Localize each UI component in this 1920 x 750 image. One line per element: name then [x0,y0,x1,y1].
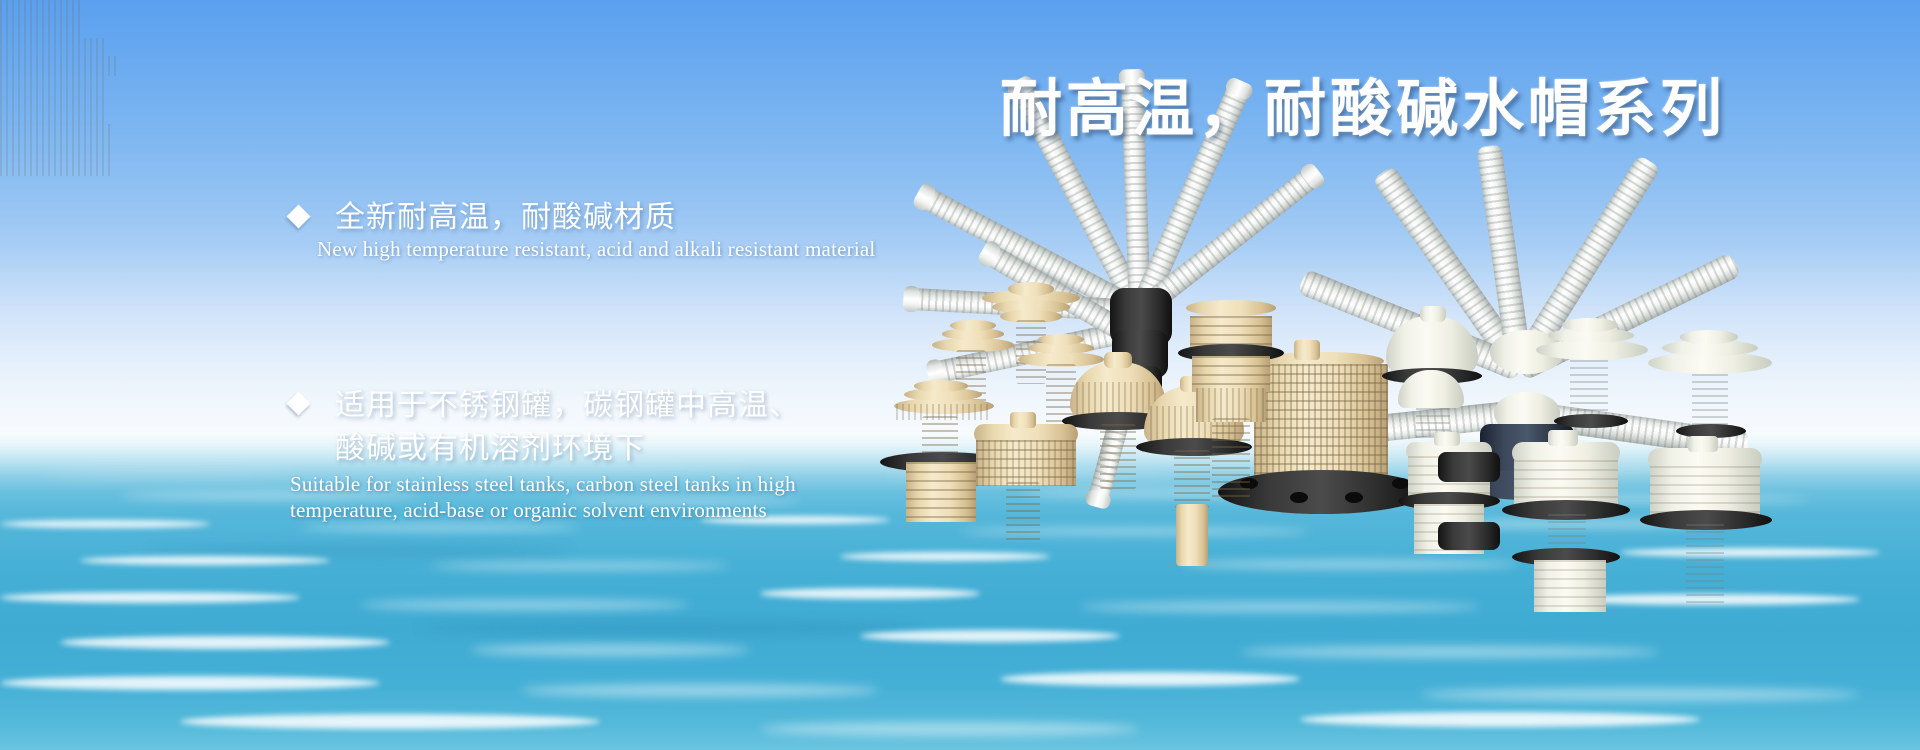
diamond-bullet-icon [286,204,310,228]
diamond-bullet-icon [286,391,310,415]
bullet-2-en-line-2: temperature, acid-base or organic solven… [290,497,800,523]
page-title: 耐高温，耐酸碱水帽系列 [1000,58,1726,148]
bullet-1-en-text: New high temperature resistant, acid and… [317,236,875,262]
bullet-1-en-line-1: New high temperature resistant, acid and… [317,236,875,262]
bullet-1-cn-text: 全新耐高温，耐酸碱材质 [335,196,875,239]
feature-bullet-1: 全新耐高温，耐酸碱材质 New high temperature resista… [290,196,875,262]
bullet-2-cn-text: 适用于不锈钢罐，碳钢罐中高温、 酸碱或有机溶剂环境下 [335,384,800,470]
bullet-2-cn-line-2: 酸碱或有机溶剂环境下 [335,427,800,470]
bullet-2-cn-line-1: 适用于不锈钢罐，碳钢罐中高温、 [335,384,800,427]
bullet-2-en-line-1: Suitable for stainless steel tanks, carb… [290,471,800,497]
feature-bullet-2: 适用于不锈钢罐，碳钢罐中高温、 酸碱或有机溶剂环境下 Suitable for … [290,384,800,523]
bullet-2-en-text: Suitable for stainless steel tanks, carb… [290,471,800,523]
bullet-1-cn-line-1: 全新耐高温，耐酸碱材质 [335,196,875,239]
product-banner: 耐高温，耐酸碱水帽系列 全新耐高温，耐酸碱材质 New high tempera… [0,0,1920,750]
